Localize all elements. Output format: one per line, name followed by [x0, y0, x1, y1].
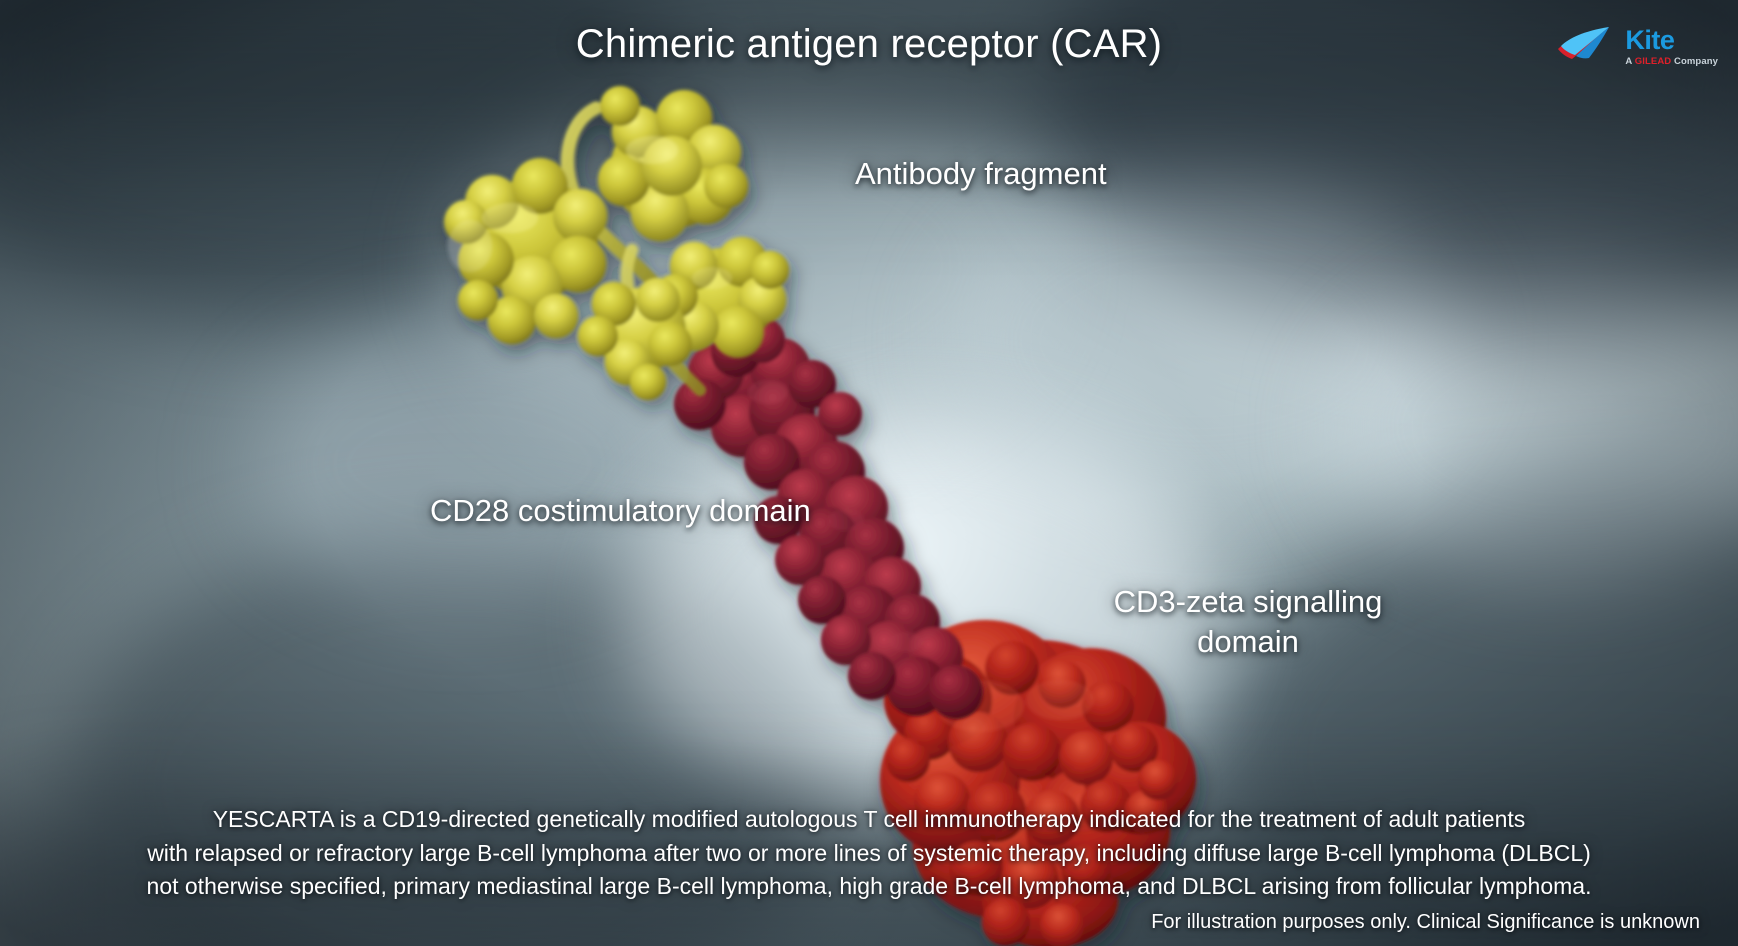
kite-tagline: A GILEAD Company — [1625, 57, 1718, 67]
label-cd28-costimulatory-domain: CD28 costimulatory domain — [430, 491, 811, 531]
tagline-suffix: Company — [1671, 56, 1718, 67]
kite-logo-text: Kite A GILEAD Company — [1625, 24, 1718, 67]
illustration-footnote: For illustration purposes only. Clinical… — [1151, 911, 1700, 934]
tagline-gilead: GILEAD — [1635, 56, 1672, 67]
disclaimer-line-3: not otherwise specified, primary mediast… — [28, 870, 1710, 904]
label-cd3-zeta-signalling-domain: CD3-zeta signalling domain — [1098, 582, 1398, 661]
car-illustration-slide: Chimeric antigen receptor (CAR) Antibody… — [0, 0, 1738, 946]
disclaimer-line-2: with relapsed or refractory large B-cell… — [28, 837, 1710, 871]
kite-paper-plane-icon — [1556, 25, 1618, 67]
disclaimer-line-1: YESCARTA is a CD19-directed genetically … — [28, 803, 1710, 837]
page-title: Chimeric antigen receptor (CAR) — [0, 22, 1738, 67]
kite-wordmark: Kite — [1625, 27, 1718, 54]
label-antibody-fragment: Antibody fragment — [855, 154, 1107, 194]
kite-logo: Kite A GILEAD Company — [1556, 24, 1718, 67]
indication-disclaimer: YESCARTA is a CD19-directed genetically … — [0, 803, 1738, 904]
tagline-prefix: A — [1625, 56, 1634, 67]
